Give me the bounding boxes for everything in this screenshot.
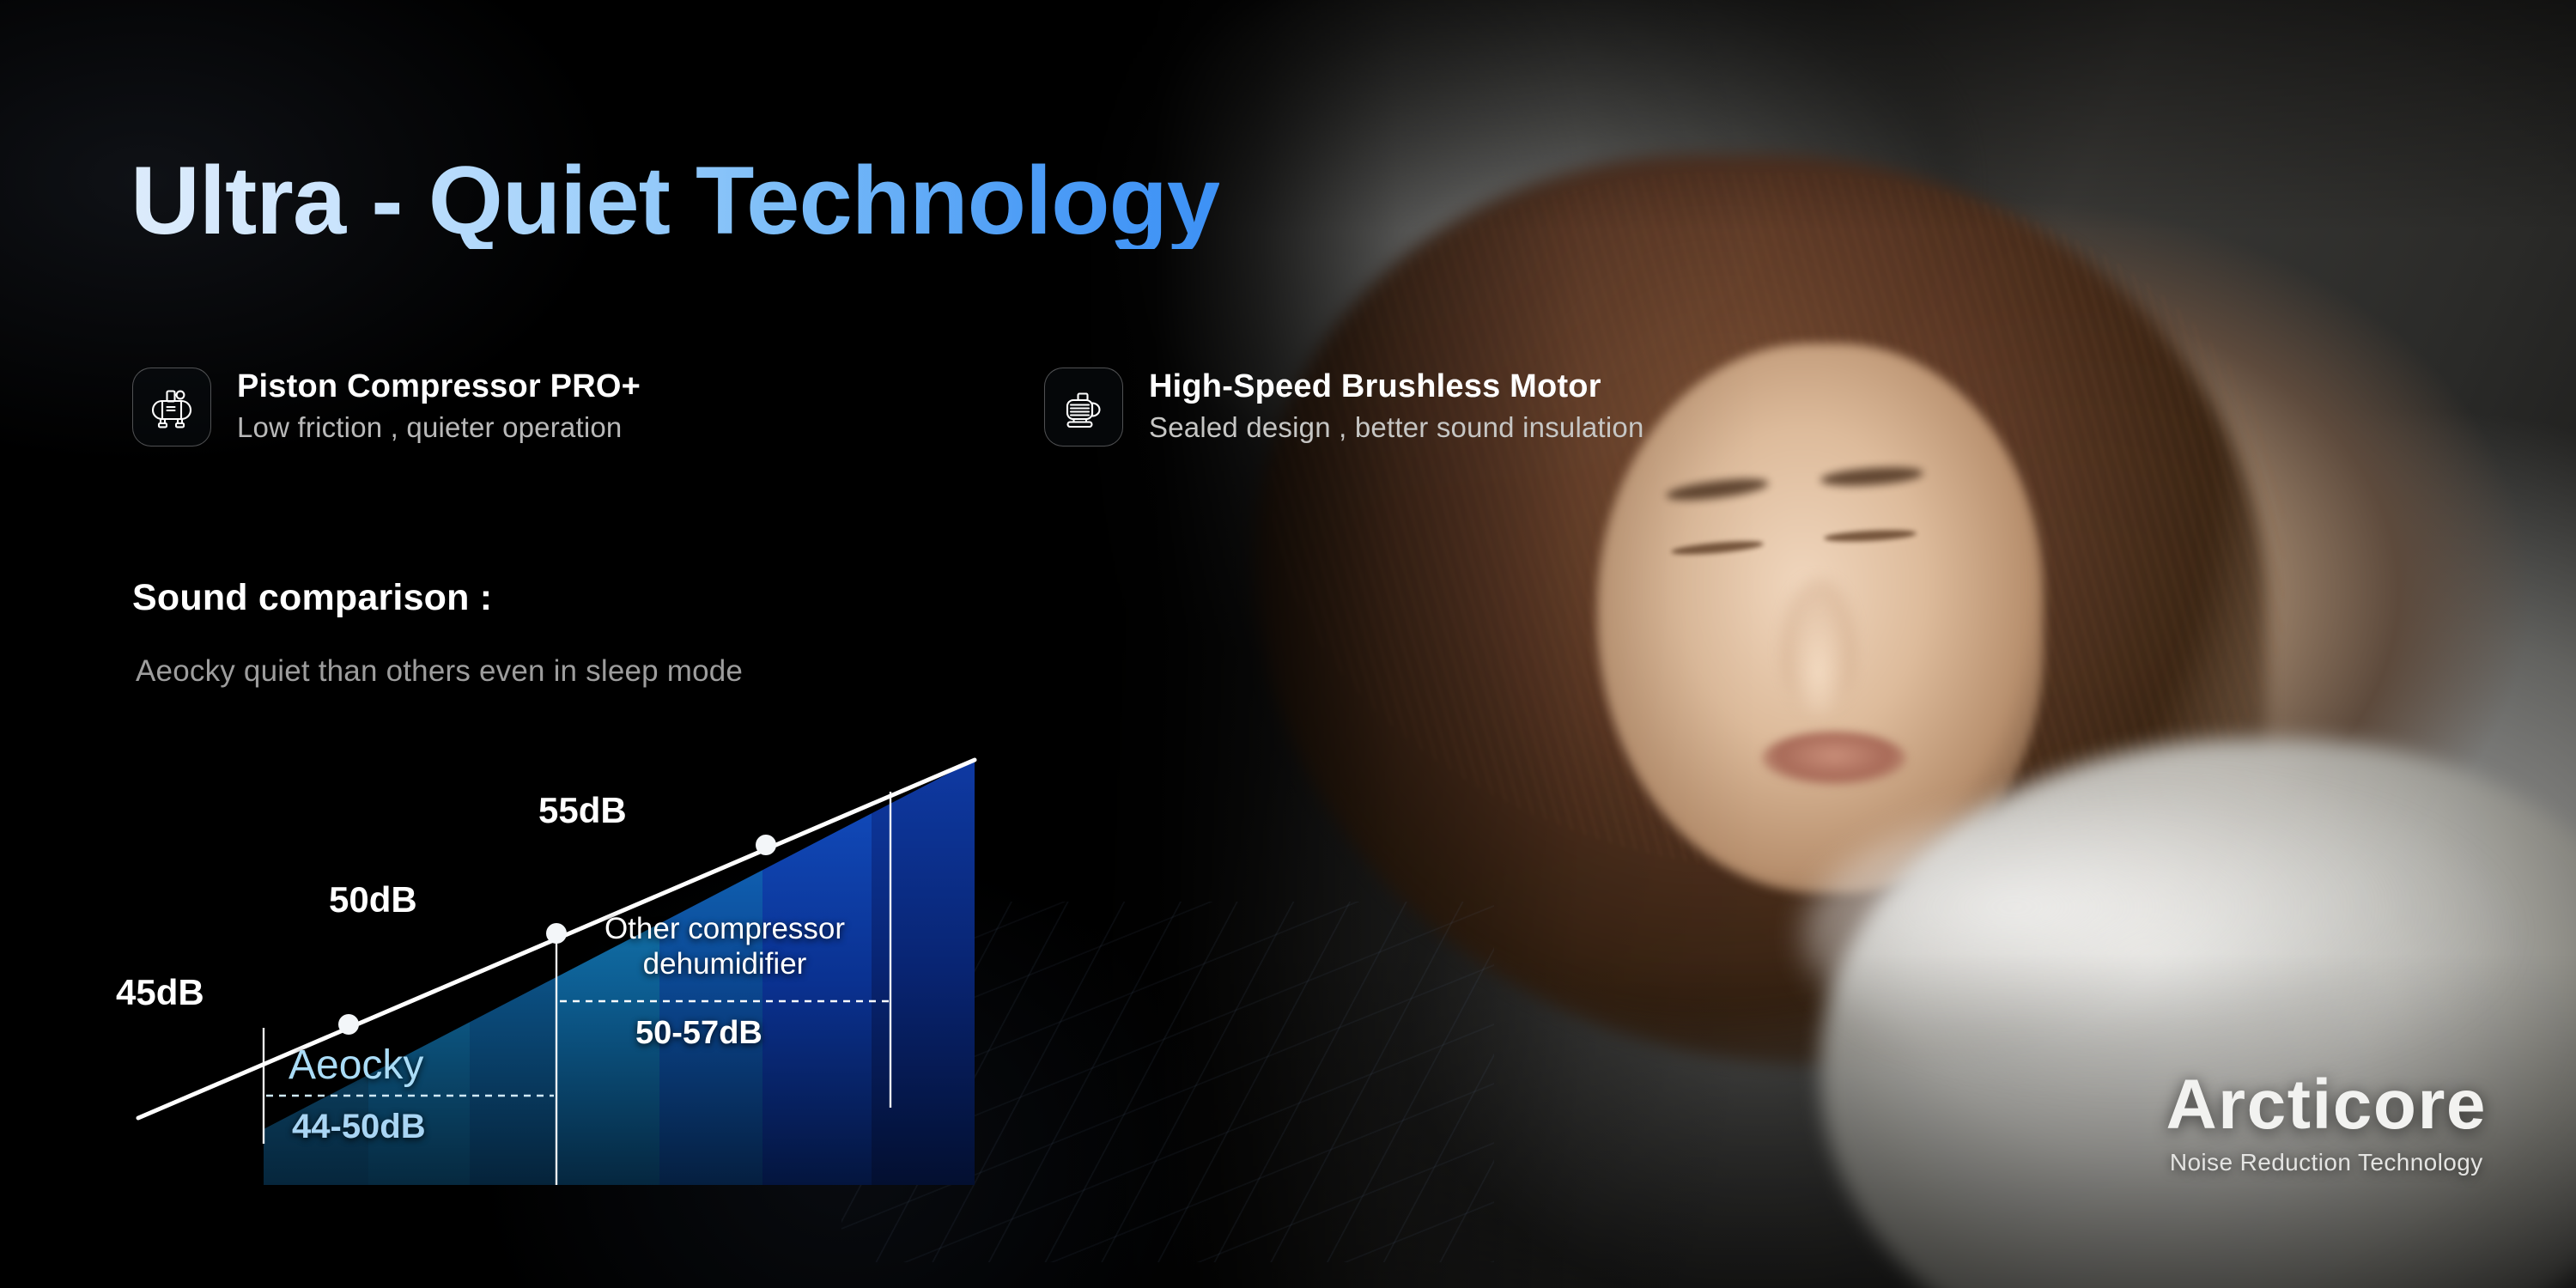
sound-comparison-subheading: Aeocky quiet than others even in sleep m… xyxy=(136,654,743,689)
brushless-motor-icon xyxy=(1044,368,1123,447)
feature-card-brushless-motor: High-Speed Brushless Motor Sealed design… xyxy=(1044,368,1644,447)
sound-comparison-chart: 45dB 50dB 55dB Aeocky 44-50dB Other comp… xyxy=(120,738,1030,1185)
category-name-aeocky: Aeocky xyxy=(289,1042,423,1089)
data-point-45db xyxy=(338,1014,359,1035)
feature-card-piston-compressor: Piston Compressor PRO+ Low friction , qu… xyxy=(132,368,641,447)
brand-name: Arcticore xyxy=(2166,1070,2487,1140)
category-name-other: Other compressor dehumidifier xyxy=(569,912,880,981)
db-label-50: 50dB xyxy=(329,879,417,920)
category-name-other-line2: dehumidifier xyxy=(569,947,880,982)
feature-title: High-Speed Brushless Motor xyxy=(1149,368,1644,406)
category-range-aeocky: 44-50dB xyxy=(292,1108,426,1146)
data-point-55db xyxy=(756,835,776,855)
feature-text-block: High-Speed Brushless Motor Sealed design… xyxy=(1149,368,1644,447)
brand-tagline: Noise Reduction Technology xyxy=(2166,1151,2487,1175)
poster-canvas: Ultra - Quiet Technology xyxy=(0,0,2576,1288)
brand-lockup: Arcticore Noise Reduction Technology xyxy=(2166,1070,2487,1175)
feature-title: Piston Compressor PRO+ xyxy=(237,368,641,406)
feature-subtitle: Low friction , quieter operation xyxy=(237,411,641,444)
data-point-50db xyxy=(546,923,567,944)
piston-compressor-icon xyxy=(132,368,211,447)
feature-subtitle: Sealed design , better sound insulation xyxy=(1149,411,1644,444)
category-range-other: 50-57dB xyxy=(635,1015,762,1052)
category-name-other-line1: Other compressor xyxy=(569,912,880,947)
feature-text-block: Piston Compressor PRO+ Low friction , qu… xyxy=(237,368,641,447)
sound-comparison-heading: Sound comparison : xyxy=(132,577,492,619)
db-label-45: 45dB xyxy=(116,972,204,1013)
db-label-55: 55dB xyxy=(538,790,627,831)
page-title: Ultra - Quiet Technology xyxy=(131,153,1219,249)
